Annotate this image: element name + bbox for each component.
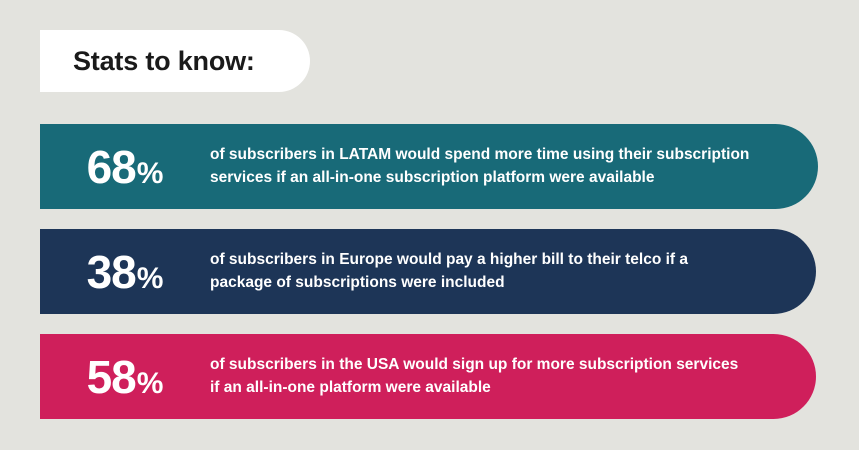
percent-symbol-latam: % [137,159,164,189]
stat-number-usa: 58 [87,354,136,400]
stat-description-latam-line2: services if an all-in-one subscription p… [210,167,794,189]
percent-symbol-europe: % [137,264,164,294]
header-badge: Stats to know: [40,30,310,92]
stat-description-usa-line2: if an all-in-one platform were available [210,377,792,399]
stat-description-usa: of subscribers in the USA would sign up … [210,354,816,399]
stat-description-latam-line1: of subscribers in LATAM would spend more… [210,144,794,166]
percent-symbol-usa: % [137,369,164,399]
stat-figure-usa: 58 % [40,354,210,400]
stat-description-europe-line1: of subscribers in Europe would pay a hig… [210,249,792,271]
stat-description-latam: of subscribers in LATAM would spend more… [210,144,818,189]
stat-description-europe: of subscribers in Europe would pay a hig… [210,249,816,294]
stat-bar-latam: 68 % of subscribers in LATAM would spend… [40,124,818,209]
stat-figure-europe: 38 % [40,249,210,295]
stat-bar-usa: 58 % of subscribers in the USA would sig… [40,334,816,419]
stat-description-europe-line2: package of subscriptions were included [210,272,792,294]
stat-description-usa-line1: of subscribers in the USA would sign up … [210,354,792,376]
stat-number-latam: 68 [87,144,136,190]
stats-infographic: Stats to know: 68 % of subscribers in LA… [0,0,859,450]
stat-number-europe: 38 [87,249,136,295]
page-title: Stats to know: [73,46,255,77]
stat-figure-latam: 68 % [40,144,210,190]
stat-bar-europe: 38 % of subscribers in Europe would pay … [40,229,816,314]
